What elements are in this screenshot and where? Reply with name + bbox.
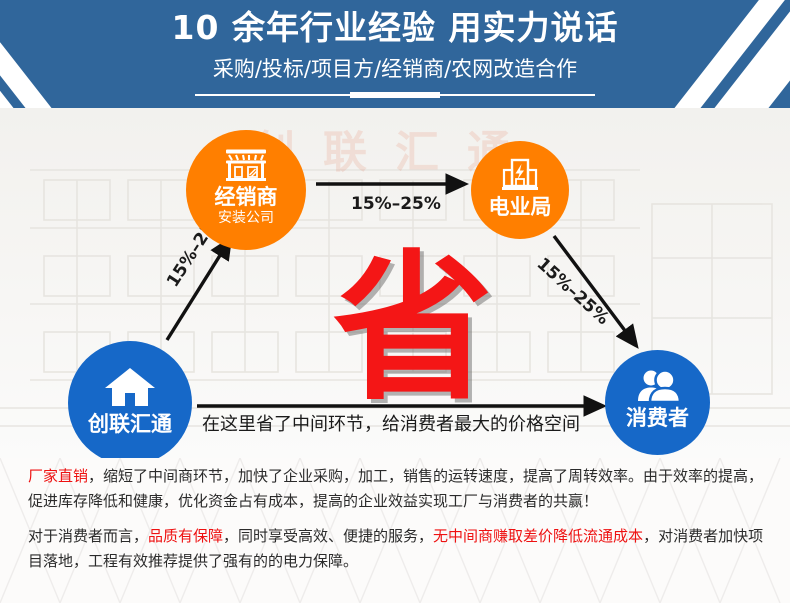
banner-subtitle: 采购/投标/项目方/经销商/农网改造合作 [0, 55, 790, 83]
divider-segment-left [195, 94, 355, 96]
paragraph-2-highlight-2: 无中间商赚取差价降低流通成本 [433, 527, 643, 545]
save-character: 省 [333, 249, 493, 409]
node-consumer[interactable]: 消费者 [605, 350, 710, 455]
description-section: 厂家直销，缩短了中间商环节，加快了企业采购，加工，销售的运转速度，提高了周转效率… [0, 458, 790, 603]
node-brand-label: 创联汇通 [68, 413, 192, 435]
banner-divider [195, 92, 595, 98]
arrow-label-dealer-to-power: 15%–25% [351, 194, 441, 214]
node-power-bureau[interactable]: 电业局 [471, 141, 569, 239]
description-paragraph-2: 对于消费者而言，品质有保障，同时享受高效、便捷的服务，无中间商赚取差价降低流通成… [28, 524, 768, 574]
storefront-icon [223, 148, 269, 182]
divider-segment-right [435, 94, 595, 96]
arrow-label-brand-to-consumer: 在这里省了中间环节，给消费者最大的价格空间 [202, 410, 580, 436]
people-icon [635, 369, 681, 403]
node-dealer-sublabel: 安装公司 [186, 211, 306, 226]
paragraph-1-highlight: 厂家直销 [28, 467, 88, 485]
promo-page: 10 余年行业经验 用实力说话 采购/投标/项目方/经销商/农网改造合作 [0, 0, 790, 603]
node-dealer[interactable]: 经销商 安装公司 [186, 130, 306, 250]
node-brand[interactable]: 创联汇通 [68, 341, 192, 458]
paragraph-2-highlight-1: 品质有保障 [148, 527, 223, 545]
power-building-icon [501, 158, 539, 192]
banner-title: 10 余年行业经验 用实力说话 [0, 8, 790, 48]
divider-segment-center [350, 92, 440, 98]
house-icon [104, 367, 156, 407]
node-power-bureau-label: 电业局 [471, 196, 569, 218]
header-banner: 10 余年行业经验 用实力说话 采购/投标/项目方/经销商/农网改造合作 [0, 0, 790, 108]
flow-diagram: 创联汇通 省 15%–25% 15%–25% 15%–25% 在这里省了中间环节… [0, 108, 790, 458]
paragraph-2-middle: ，同时享受高效、便捷的服务， [223, 527, 433, 545]
paragraph-2-lead: 对于消费者而言， [28, 527, 148, 545]
node-consumer-label: 消费者 [605, 407, 710, 429]
node-dealer-label: 经销商 [186, 186, 306, 208]
description-paragraph-1: 厂家直销，缩短了中间商环节，加快了企业采购，加工，销售的运转速度，提高了周转效率… [28, 464, 768, 514]
paragraph-1-rest: ，缩短了中间商环节，加快了企业采购，加工，销售的运转速度，提高了周转效率。由于效… [28, 467, 763, 510]
